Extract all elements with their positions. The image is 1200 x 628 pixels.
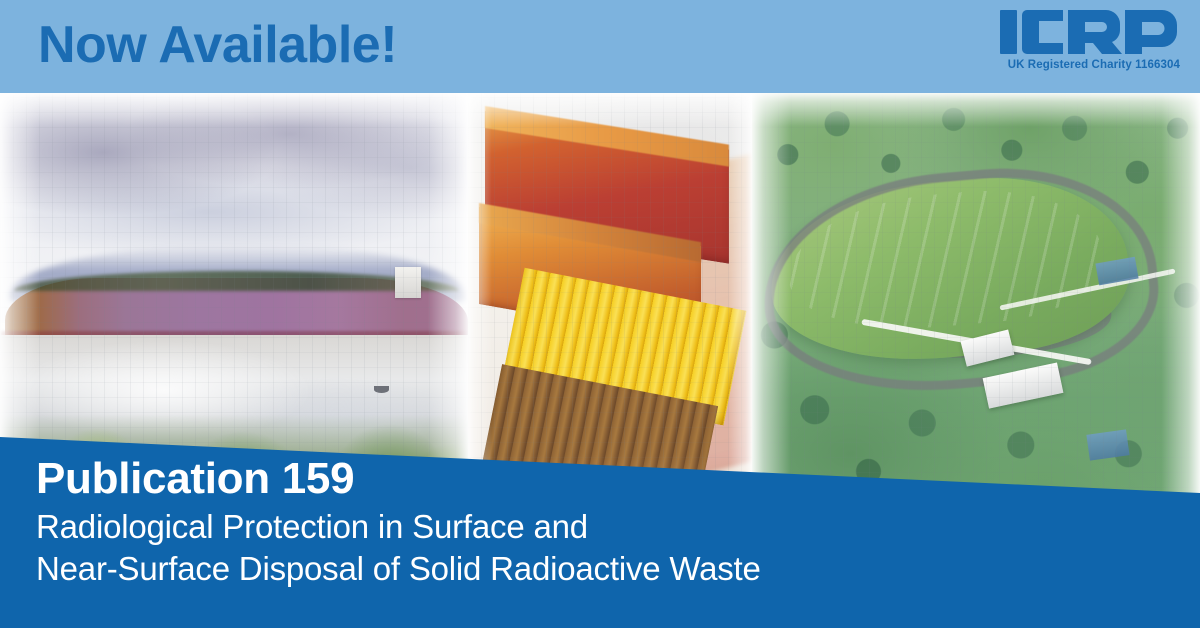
publication-subtitle-line-1: Radiological Protection in Surface and — [36, 506, 1146, 548]
icrp-wordmark-icon — [1000, 6, 1182, 58]
icrp-publication-promo-poster: Now Available! UK Registered Charity 116… — [0, 0, 1200, 628]
header-title: Now Available! — [38, 10, 397, 80]
banner-text-block: Publication 159 Radiological Protection … — [36, 452, 1146, 590]
header-bar: Now Available! UK Registered Charity 116… — [0, 0, 1200, 93]
small-boat — [374, 386, 389, 393]
icrp-logo: UK Registered Charity 1166304 — [992, 6, 1182, 86]
publication-subtitle-line-2: Near-Surface Disposal of Solid Radioacti… — [36, 548, 1146, 590]
icrp-charity-number: UK Registered Charity 1166304 — [992, 59, 1182, 71]
publication-title: Publication 159 — [36, 452, 1146, 506]
ridge-building — [395, 267, 421, 298]
